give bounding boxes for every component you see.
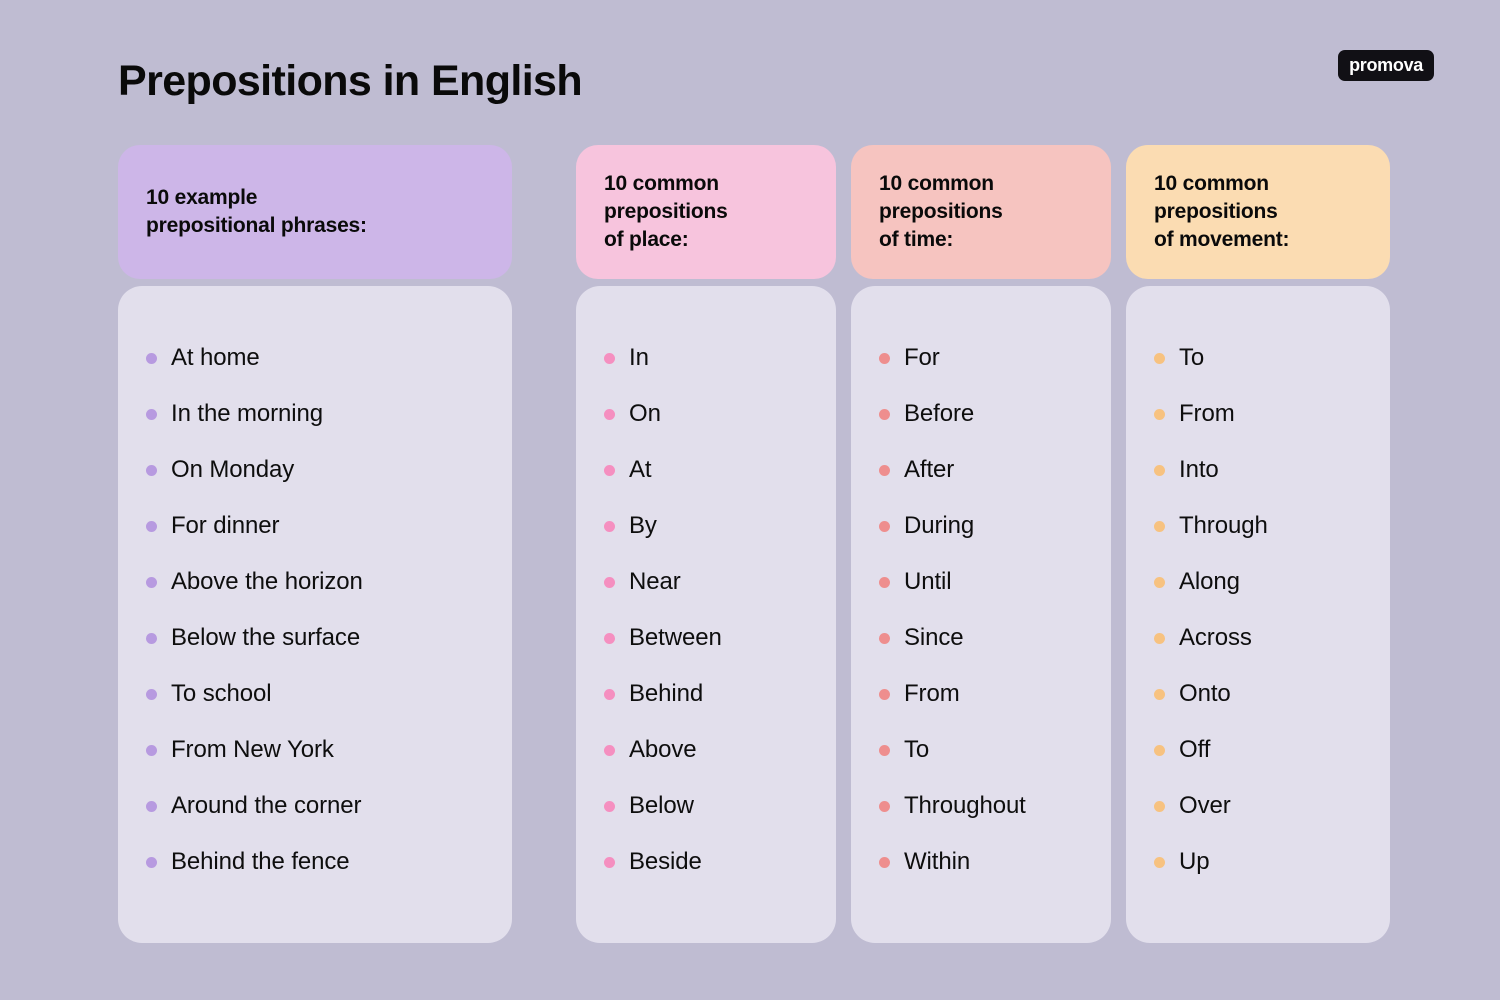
list-item-label: Within [904, 850, 970, 874]
list-prepositions-of-place: InOnAtByNearBetweenBehindAboveBelowBesid… [576, 330, 836, 890]
column-header-prepositions-of-movement: 10 common prepositions of movement: [1126, 145, 1390, 279]
bullet-icon [604, 409, 615, 420]
list-item-label: From [904, 682, 960, 706]
bullet-icon [146, 465, 157, 476]
column-prepositions-of-time: 10 common prepositions of time: ForBefor… [851, 145, 1111, 943]
bullet-icon [879, 801, 890, 812]
bullet-icon [1154, 857, 1165, 868]
list-item-label: To [904, 738, 929, 762]
bullet-icon [604, 521, 615, 532]
list-item: Over [1126, 778, 1390, 834]
column-header-label: 10 common prepositions of movement: [1126, 170, 1303, 253]
list-item-label: Near [629, 570, 681, 594]
list-item-label: To [1179, 346, 1204, 370]
column-header-prepositions-of-place: 10 common prepositions of place: [576, 145, 836, 279]
list-item: From New York [118, 722, 512, 778]
list-item: Along [1126, 554, 1390, 610]
bullet-icon [1154, 633, 1165, 644]
bullet-icon [879, 465, 890, 476]
list-item-label: For [904, 346, 940, 370]
bullet-icon [1154, 409, 1165, 420]
column-header-label: 10 common prepositions of place: [576, 170, 742, 253]
list-item: Behind the fence [118, 834, 512, 890]
list-item-label: For dinner [171, 514, 279, 538]
list-item-label: From New York [171, 738, 334, 762]
column-header-label: 10 example prepositional phrases: [118, 184, 381, 239]
list-item: Into [1126, 442, 1390, 498]
bullet-icon [604, 465, 615, 476]
column-body-prepositions-of-time: ForBeforeAfterDuringUntilSinceFromToThro… [851, 286, 1111, 943]
list-item: At home [118, 330, 512, 386]
list-item-label: Between [629, 626, 722, 650]
list-item-label: In [629, 346, 649, 370]
bullet-icon [879, 521, 890, 532]
list-item-label: To school [171, 682, 272, 706]
bullet-icon [146, 353, 157, 364]
page-header: Prepositions in English promova [0, 0, 1500, 148]
promova-logo: promova [1338, 50, 1434, 81]
bullet-icon [146, 633, 157, 644]
bullet-icon [1154, 577, 1165, 588]
list-item-label: Behind the fence [171, 850, 350, 874]
list-item: Throughout [851, 778, 1111, 834]
bullet-icon [146, 801, 157, 812]
list-item-label: In the morning [171, 402, 323, 426]
column-body-prepositions-of-place: InOnAtByNearBetweenBehindAboveBelowBesid… [576, 286, 836, 943]
column-body-prepositions-of-movement: ToFromIntoThroughAlongAcrossOntoOffOverU… [1126, 286, 1390, 943]
columns-container: 10 example prepositional phrases: At hom… [118, 145, 1390, 945]
list-item: To [1126, 330, 1390, 386]
bullet-icon [879, 353, 890, 364]
bullet-icon [604, 577, 615, 588]
bullet-icon [604, 689, 615, 700]
list-item: Through [1126, 498, 1390, 554]
list-item-label: Since [904, 626, 964, 650]
list-prepositions-of-time: ForBeforeAfterDuringUntilSinceFromToThro… [851, 330, 1111, 890]
bullet-icon [604, 633, 615, 644]
list-item-label: Up [1179, 850, 1209, 874]
bullet-icon [146, 689, 157, 700]
list-item-label: Until [904, 570, 952, 594]
list-item-label: Across [1179, 626, 1252, 650]
list-item: Beside [576, 834, 836, 890]
list-prepositions-of-movement: ToFromIntoThroughAlongAcrossOntoOffOverU… [1126, 330, 1390, 890]
bullet-icon [604, 857, 615, 868]
list-item: Above the horizon [118, 554, 512, 610]
list-item-label: Around the corner [171, 794, 361, 818]
bullet-icon [604, 353, 615, 364]
bullet-icon [879, 633, 890, 644]
list-item: Onto [1126, 666, 1390, 722]
bullet-icon [1154, 353, 1165, 364]
list-item: From [851, 666, 1111, 722]
list-item-label: Beside [629, 850, 702, 874]
list-item: To school [118, 666, 512, 722]
list-item: For dinner [118, 498, 512, 554]
column-body-example-phrases: At homeIn the morningOn MondayFor dinner… [118, 286, 512, 943]
bullet-icon [1154, 465, 1165, 476]
list-item-label: Into [1179, 458, 1219, 482]
list-item-label: Over [1179, 794, 1231, 818]
list-item-label: On [629, 402, 661, 426]
bullet-icon [146, 857, 157, 868]
list-item: In [576, 330, 836, 386]
list-item: Within [851, 834, 1111, 890]
list-example-phrases: At homeIn the morningOn MondayFor dinner… [118, 330, 512, 890]
bullet-icon [604, 801, 615, 812]
list-item: At [576, 442, 836, 498]
bullet-icon [879, 857, 890, 868]
bullet-icon [1154, 801, 1165, 812]
bullet-icon [146, 577, 157, 588]
list-item: After [851, 442, 1111, 498]
list-item-label: Above [629, 738, 697, 762]
list-item: Below [576, 778, 836, 834]
list-item: On Monday [118, 442, 512, 498]
list-item-label: Before [904, 402, 974, 426]
column-header-prepositions-of-time: 10 common prepositions of time: [851, 145, 1111, 279]
list-item-label: By [629, 514, 657, 538]
list-item-label: After [904, 458, 954, 482]
list-item: Behind [576, 666, 836, 722]
bullet-icon [879, 409, 890, 420]
list-item: Near [576, 554, 836, 610]
column-example-phrases: 10 example prepositional phrases: At hom… [118, 145, 512, 943]
list-item-label: Off [1179, 738, 1210, 762]
list-item: On [576, 386, 836, 442]
list-item-label: Through [1179, 514, 1268, 538]
list-item: Above [576, 722, 836, 778]
bullet-icon [146, 745, 157, 756]
list-item: Between [576, 610, 836, 666]
list-item-label: At home [171, 346, 260, 370]
list-item-label: Behind [629, 682, 703, 706]
list-item-label: At [629, 458, 651, 482]
bullet-icon [146, 409, 157, 420]
list-item: During [851, 498, 1111, 554]
list-item: Below the surface [118, 610, 512, 666]
bullet-icon [879, 577, 890, 588]
list-item: By [576, 498, 836, 554]
column-prepositions-of-place: 10 common prepositions of place: InOnAtB… [576, 145, 836, 943]
list-item-label: Below [629, 794, 694, 818]
column-header-example-phrases: 10 example prepositional phrases: [118, 145, 512, 279]
page-title: Prepositions in English [118, 57, 582, 106]
list-item: Around the corner [118, 778, 512, 834]
list-item-label: During [904, 514, 974, 538]
bullet-icon [879, 745, 890, 756]
bullet-icon [1154, 745, 1165, 756]
list-item: Since [851, 610, 1111, 666]
bullet-icon [146, 521, 157, 532]
list-item-label: On Monday [171, 458, 294, 482]
list-item: Off [1126, 722, 1390, 778]
bullet-icon [604, 745, 615, 756]
column-prepositions-of-movement: 10 common prepositions of movement: ToFr… [1126, 145, 1390, 943]
bullet-icon [1154, 521, 1165, 532]
bullet-icon [879, 689, 890, 700]
list-item-label: Above the horizon [171, 570, 363, 594]
list-item-label: Below the surface [171, 626, 360, 650]
list-item: To [851, 722, 1111, 778]
list-item-label: From [1179, 402, 1235, 426]
list-item: Across [1126, 610, 1390, 666]
list-item: For [851, 330, 1111, 386]
list-item: Until [851, 554, 1111, 610]
list-item: Before [851, 386, 1111, 442]
list-item-label: Throughout [904, 794, 1026, 818]
list-item: Up [1126, 834, 1390, 890]
list-item: In the morning [118, 386, 512, 442]
list-item-label: Onto [1179, 682, 1231, 706]
column-header-label: 10 common prepositions of time: [851, 170, 1017, 253]
list-item-label: Along [1179, 570, 1240, 594]
list-item: From [1126, 386, 1390, 442]
bullet-icon [1154, 689, 1165, 700]
